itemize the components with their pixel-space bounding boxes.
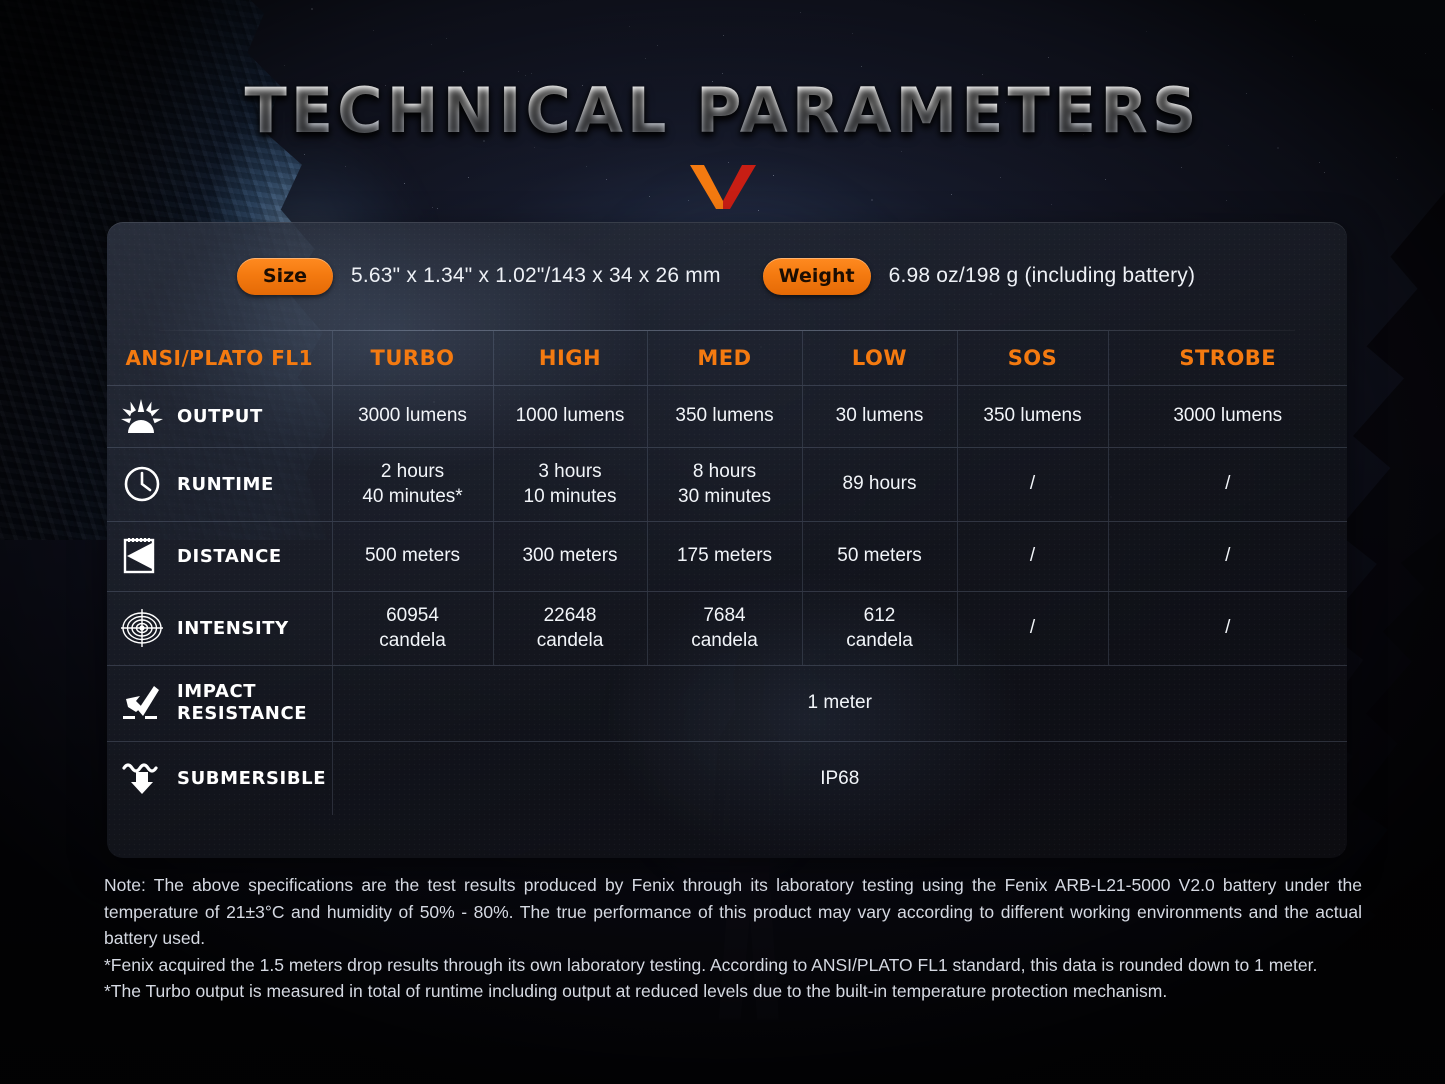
header-strobe: STROBE: [1108, 331, 1347, 385]
cell-intensity-turbo: 60954 candela: [332, 591, 493, 665]
cell-output-strobe: 3000 lumens: [1108, 385, 1347, 447]
note-paragraph-1: Note: The above specifications are the t…: [104, 872, 1362, 952]
row-label-text: SUBMERSIBLE: [177, 768, 326, 789]
cell-distance-low: 50 meters: [802, 521, 957, 591]
line1: 60954: [386, 605, 439, 626]
line1: 612: [864, 605, 896, 626]
line2: candela: [803, 628, 957, 653]
cell-distance-sos: /: [957, 521, 1108, 591]
header-high: HIGH: [493, 331, 647, 385]
header-med: MED: [647, 331, 802, 385]
line1: 7684: [703, 605, 745, 626]
table-row-output: OUTPUT 3000 lumens 1000 lumens 350 lumen…: [107, 385, 1347, 447]
weight-badge: Weight: [763, 258, 871, 295]
cell-distance-strobe: /: [1108, 521, 1347, 591]
line2: candela: [648, 628, 802, 653]
footnotes: Note: The above specifications are the t…: [104, 872, 1362, 1005]
cell-output-turbo: 3000 lumens: [332, 385, 493, 447]
row-label-impact-resistance: IMPACTRESISTANCE: [107, 665, 332, 741]
size-badge: Size: [237, 258, 333, 295]
header-turbo: TURBO: [332, 331, 493, 385]
line2: 40 minutes*: [333, 484, 493, 509]
header-ansi-plato: ANSI/PLATO FL1: [107, 331, 332, 385]
cell-intensity-strobe: /: [1108, 591, 1347, 665]
line1: 3 hours: [538, 461, 601, 482]
weight-value: 6.98 oz/198 g (including battery): [889, 264, 1196, 288]
header-sos: SOS: [957, 331, 1108, 385]
line2: 10 minutes: [494, 484, 647, 509]
table-row-distance: DISTANCE 500 meters 300 meters 175 meter…: [107, 521, 1347, 591]
row-label-submersible: SUBMERSIBLE: [107, 741, 332, 815]
cell-distance-turbo: 500 meters: [332, 521, 493, 591]
cell-runtime-high: 3 hours 10 minutes: [493, 447, 647, 521]
chevron-down-icon: [690, 165, 756, 209]
table-row-runtime: RUNTIME 2 hours 40 minutes* 3 hours 10 m…: [107, 447, 1347, 521]
cell-output-low: 30 lumens: [802, 385, 957, 447]
row-label-distance: DISTANCE: [107, 521, 332, 591]
line2: candela: [494, 628, 647, 653]
row-label-text: OUTPUT: [177, 406, 263, 427]
cell-impact-resistance-value: 1 meter: [332, 665, 1347, 741]
cell-distance-med: 175 meters: [647, 521, 802, 591]
cell-runtime-low: 89 hours: [802, 447, 957, 521]
line1: 22648: [544, 605, 597, 626]
line2: candela: [333, 628, 493, 653]
sunburst-icon: [119, 395, 165, 437]
row-label-intensity: INTENSITY: [107, 591, 332, 665]
row-label-runtime: RUNTIME: [107, 447, 332, 521]
note-paragraph-2: *Fenix acquired the 1.5 meters drop resu…: [104, 952, 1362, 979]
chevron-divider: [0, 165, 1445, 214]
table-row-submersible: SUBMERSIBLE IP68: [107, 741, 1347, 815]
impact-line2: RESISTANCE: [177, 703, 307, 724]
row-label-text: IMPACTRESISTANCE: [177, 681, 307, 726]
row-label-text: INTENSITY: [177, 618, 289, 639]
cell-submersible-value: IP68: [332, 741, 1347, 815]
table-header-row: ANSI/PLATO FL1 TURBO HIGH MED LOW SOS ST…: [107, 331, 1347, 385]
distance-beam-icon: [119, 535, 165, 577]
row-label-text: DISTANCE: [177, 546, 282, 567]
header-low: LOW: [802, 331, 957, 385]
line2: 30 minutes: [648, 484, 802, 509]
row-label-text: RUNTIME: [177, 474, 274, 495]
row-label-output: OUTPUT: [107, 385, 332, 447]
cell-intensity-low: 612 candela: [802, 591, 957, 665]
line1: 8 hours: [693, 461, 756, 482]
spec-panel: Size 5.63" x 1.34" x 1.02"/143 x 34 x 26…: [107, 222, 1347, 858]
cell-intensity-sos: /: [957, 591, 1108, 665]
cell-output-med: 350 lumens: [647, 385, 802, 447]
cell-distance-high: 300 meters: [493, 521, 647, 591]
submersible-waves-icon: [119, 757, 165, 799]
cell-runtime-med: 8 hours 30 minutes: [647, 447, 802, 521]
page-title: TECHNICAL PARAMETERS: [244, 74, 1200, 147]
clock-icon: [119, 463, 165, 505]
impact-drop-icon: [119, 682, 165, 724]
intensity-target-icon: [119, 607, 165, 649]
table-row-impact-resistance: IMPACTRESISTANCE 1 meter: [107, 665, 1347, 741]
cell-output-high: 1000 lumens: [493, 385, 647, 447]
cell-output-sos: 350 lumens: [957, 385, 1108, 447]
cell-intensity-high: 22648 candela: [493, 591, 647, 665]
note-paragraph-3: *The Turbo output is measured in total o…: [104, 978, 1362, 1005]
cell-runtime-sos: /: [957, 447, 1108, 521]
specifications-table: ANSI/PLATO FL1 TURBO HIGH MED LOW SOS ST…: [107, 331, 1347, 815]
size-value: 5.63" x 1.34" x 1.02"/143 x 34 x 26 mm: [351, 264, 721, 288]
cell-runtime-turbo: 2 hours 40 minutes*: [332, 447, 493, 521]
cell-runtime-strobe: /: [1108, 447, 1347, 521]
page-title-wrap: TECHNICAL PARAMETERS: [0, 74, 1445, 147]
table-row-intensity: INTENSITY 60954 candela 22648 candela 76…: [107, 591, 1347, 665]
line1: 2 hours: [381, 461, 444, 482]
cell-intensity-med: 7684 candela: [647, 591, 802, 665]
size-weight-row: Size 5.63" x 1.34" x 1.02"/143 x 34 x 26…: [107, 222, 1347, 330]
impact-line1: IMPACT: [177, 681, 256, 702]
